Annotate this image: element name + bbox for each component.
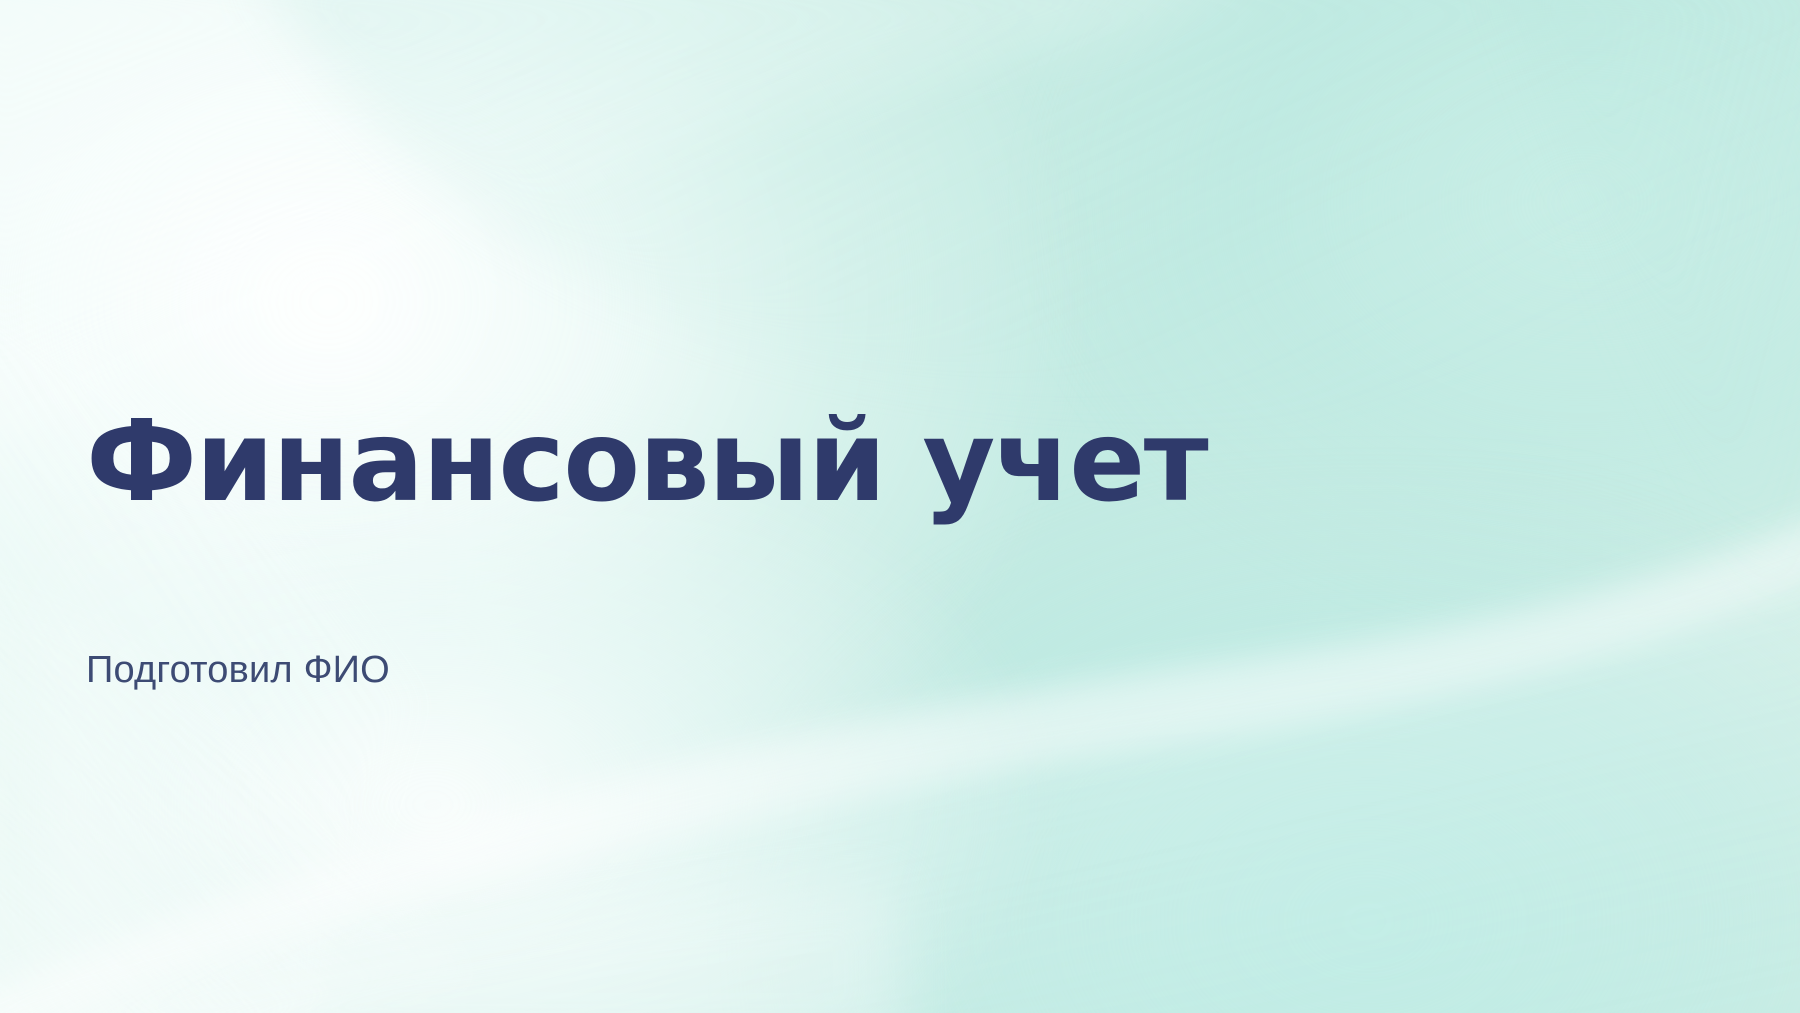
presentation-title-slide: Финансовый учет Подготовил ФИО (0, 0, 1800, 1013)
slide-subtitle: Подготовил ФИО (86, 648, 1800, 694)
slide-content: Финансовый учет Подготовил ФИО (86, 0, 1800, 1013)
page-title: Финансовый учет (86, 406, 1800, 518)
